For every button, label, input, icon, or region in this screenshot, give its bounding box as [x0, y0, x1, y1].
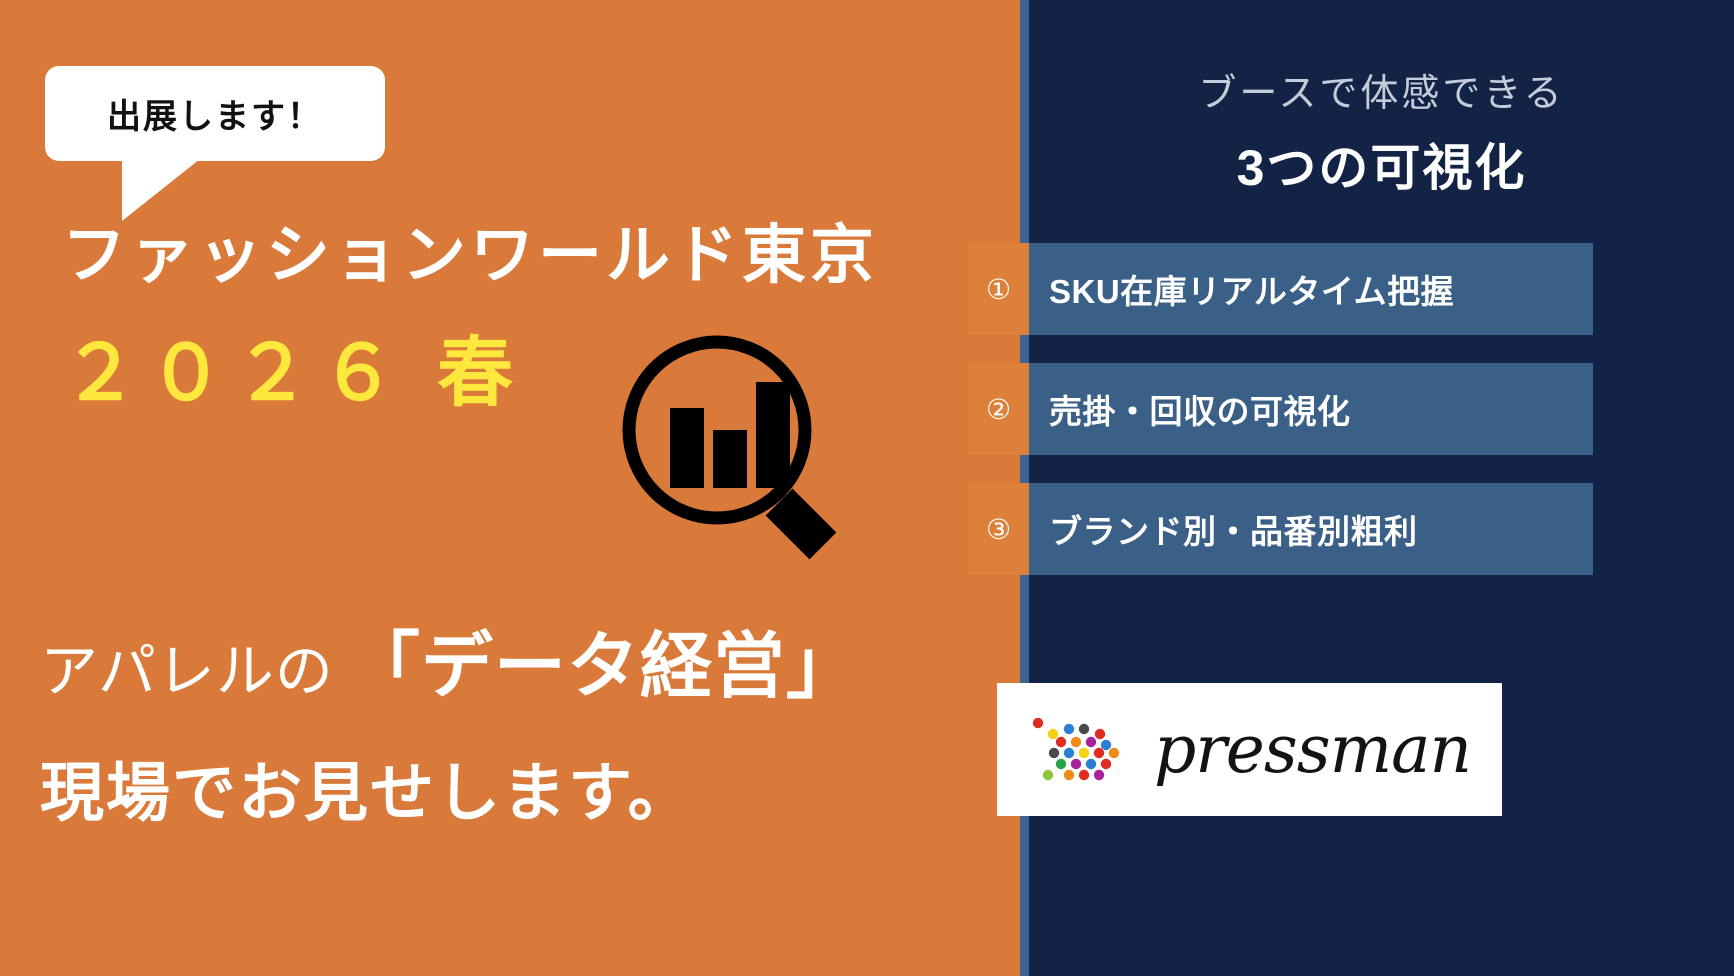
feature-label: SKU在庫リアルタイム把握 — [1029, 243, 1593, 335]
right-panel-eyebrow: ブースで体感できる — [1029, 62, 1734, 117]
tagline-emphasis-text: 「データ経営」 — [348, 607, 859, 712]
speech-bubble-label: 出展します！ — [107, 89, 323, 138]
feature-list: ① SKU在庫リアルタイム把握 ② 売掛・回収の可視化 ③ ブランド別・品番別粗… — [968, 243, 1593, 603]
feature-number-badge: ③ — [968, 483, 1029, 575]
logo-inner: pressman — [1028, 707, 1471, 793]
list-item: ① SKU在庫リアルタイム把握 — [968, 243, 1593, 335]
magnifier-bar-chart-icon — [612, 330, 862, 565]
headline-year: ２０２６ 春 — [62, 334, 702, 414]
right-navy-panel: ブースで体感できる 3つの可視化 ① SKU在庫リアルタイム把握 ② 売掛・回収… — [1029, 0, 1734, 976]
feature-label: ブランド別・品番別粗利 — [1029, 483, 1593, 575]
poster-canvas: 出展します！ ファッションワールド東京 ２０２６ 春 アパレルの 「データ経営」… — [0, 0, 1734, 976]
left-orange-panel: 出展します！ ファッションワールド東京 ２０２６ 春 アパレルの 「データ経営」… — [0, 0, 1020, 976]
pressman-logo-card: pressman — [997, 683, 1502, 816]
tagline-lead-text: アパレルの — [40, 624, 334, 708]
pressman-dots-icon — [1028, 707, 1138, 793]
tagline-row-one: アパレルの 「データ経営」 — [40, 607, 1000, 712]
feature-number-badge: ① — [968, 243, 1029, 335]
speech-bubble: 出展します！ — [45, 66, 385, 161]
tagline-row-two: 現場でお見せします。 — [40, 742, 1000, 834]
headline-event-name: ファッションワールド東京 — [62, 222, 1002, 289]
speech-bubble-tail — [122, 159, 200, 221]
list-item: ② 売掛・回収の可視化 — [968, 363, 1593, 455]
pressman-wordmark: pressman — [1154, 717, 1471, 783]
feature-label: 売掛・回収の可視化 — [1029, 363, 1593, 455]
list-item: ③ ブランド別・品番別粗利 — [968, 483, 1593, 575]
right-panel-title: 3つの可視化 — [1029, 128, 1734, 200]
feature-number-badge: ② — [968, 363, 1029, 455]
